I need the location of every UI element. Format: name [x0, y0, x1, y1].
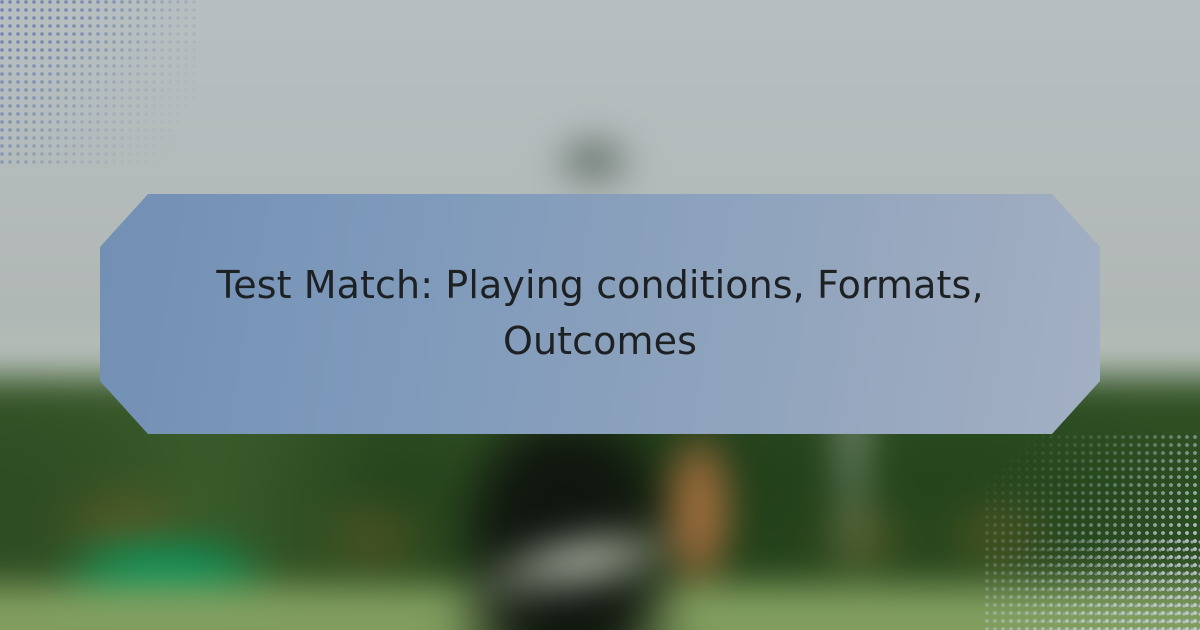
page-title: Test Match: Playing conditions, Formats,…	[210, 258, 990, 370]
background-player-head	[554, 135, 633, 180]
title-banner: Test Match: Playing conditions, Formats,…	[100, 194, 1100, 434]
share-card: Test Match: Playing conditions, Formats,…	[0, 0, 1200, 630]
background-bottom-vignette	[0, 600, 1200, 630]
